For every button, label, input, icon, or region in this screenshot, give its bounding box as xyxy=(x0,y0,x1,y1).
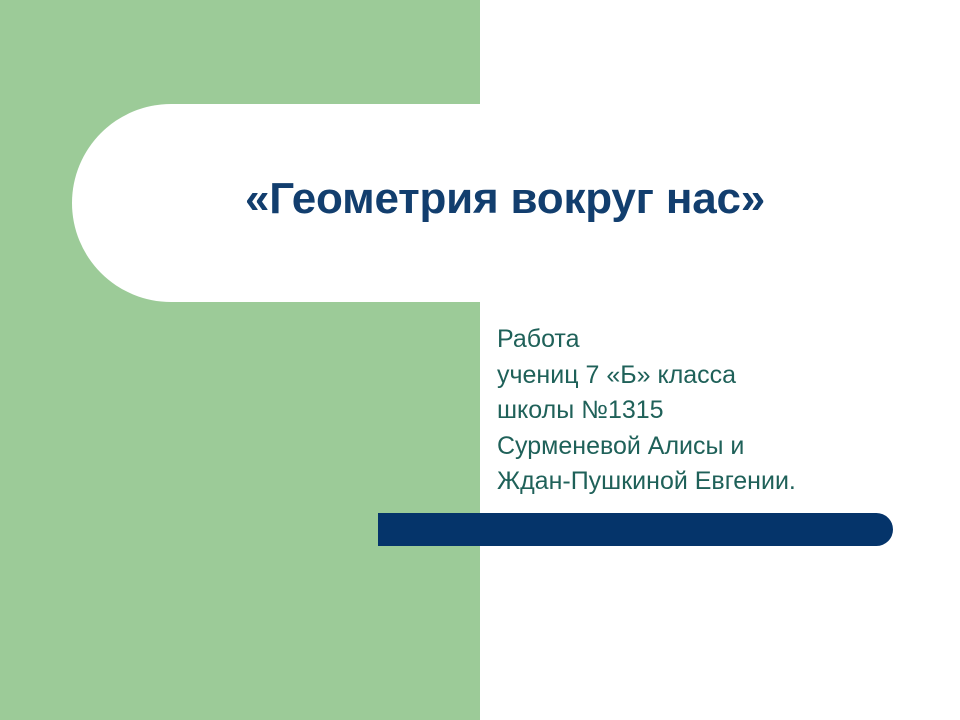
navy-accent-bar xyxy=(378,513,893,546)
subtitle-line-1: Работа xyxy=(497,322,917,358)
slide-title: «Геометрия вокруг нас» xyxy=(90,176,920,222)
presentation-slide: «Геометрия вокруг нас» Работа учениц 7 «… xyxy=(0,0,960,720)
subtitle-line-3: школы №1315 xyxy=(497,393,917,429)
subtitle-line-5: Ждан-Пушкиной Евгении. xyxy=(497,464,917,500)
subtitle-line-2: учениц 7 «Б» класса xyxy=(497,358,917,394)
slide-subtitle: Работа учениц 7 «Б» класса школы №1315 С… xyxy=(497,322,917,500)
subtitle-line-4: Сурменевой Алисы и xyxy=(497,429,917,465)
